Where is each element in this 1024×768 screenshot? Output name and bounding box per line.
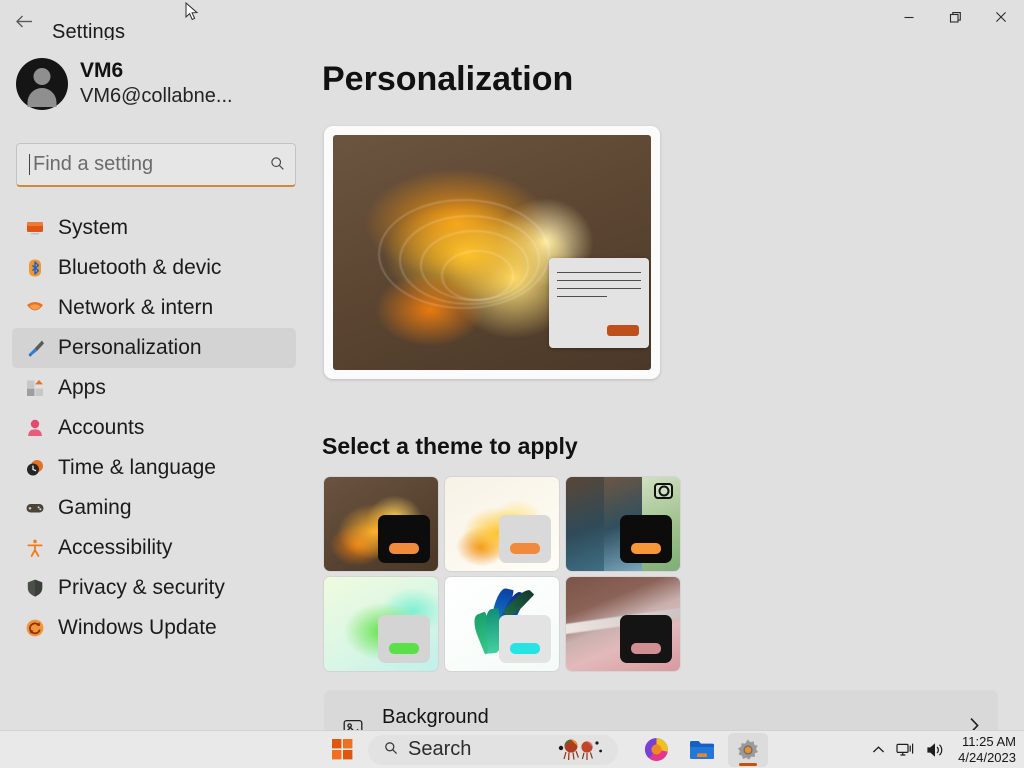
close-icon[interactable] [978, 0, 1024, 34]
file-explorer-icon[interactable] [682, 733, 722, 767]
theme-option-2[interactable] [445, 477, 559, 571]
sidebar-item-windows-update[interactable]: Windows Update [12, 608, 296, 648]
taskbar: Search [0, 730, 1024, 768]
sidebar-item-time-language[interactable]: Time & language [12, 448, 296, 488]
settings-window: Settings VM6 VM6@collabne... [0, 0, 1024, 768]
sidebar-nav: System Bluetooth & devic Network & inter… [0, 208, 312, 648]
accessibility-icon [24, 537, 46, 559]
title-bar: Settings [0, 0, 1024, 40]
time-language-icon [24, 457, 46, 479]
image-icon [340, 715, 366, 730]
windows-start-icon[interactable] [322, 733, 362, 767]
account-name: VM6 [80, 59, 233, 83]
search-icon [384, 741, 398, 758]
accounts-icon [24, 417, 46, 439]
sidebar-item-privacy-security[interactable]: Privacy & security [12, 568, 296, 608]
theme-mode-swatch [378, 615, 430, 663]
theme-option-6[interactable] [566, 577, 680, 671]
theme-option-4[interactable] [324, 577, 438, 671]
sidebar-item-gaming[interactable]: Gaming [12, 488, 296, 528]
theme-option-1[interactable] [324, 477, 438, 571]
theme-mode-swatch [499, 615, 551, 663]
sidebar-item-label: Privacy & security [58, 576, 225, 600]
sidebar-item-label: Accessibility [58, 536, 172, 560]
taskbar-search-label: Search [408, 738, 471, 761]
text-caret [29, 154, 30, 175]
sidebar-item-label: Network & intern [58, 296, 213, 320]
sidebar-item-label: Time & language [58, 456, 216, 480]
taskbar-center-group: Search [322, 731, 768, 768]
sidebar-item-label: Gaming [58, 496, 132, 520]
theme-mode-swatch [378, 515, 430, 563]
sidebar-item-label: Apps [58, 376, 106, 400]
network-icon [24, 297, 46, 319]
background-setting-card[interactable]: Background Background image, color, slid… [324, 690, 998, 730]
settings-gear-icon[interactable] [728, 733, 768, 767]
sidebar-item-label: Accounts [58, 416, 144, 440]
theme-preview-image [333, 135, 651, 370]
theme-mode-swatch [620, 615, 672, 663]
back-arrow-icon[interactable] [10, 10, 38, 32]
page-title: Personalization [322, 60, 573, 99]
theme-grid [324, 477, 680, 671]
section-title: Select a theme to apply [322, 433, 578, 460]
taskbar-clock[interactable]: 11:25 AM 4/24/2023 [958, 734, 1016, 765]
personalization-brush-icon [24, 337, 46, 359]
taskbar-search[interactable]: Search [368, 735, 618, 765]
network-tray-icon[interactable] [896, 742, 915, 758]
sidebar-item-apps[interactable]: Apps [12, 368, 296, 408]
sidebar-item-bluetooth-devices[interactable]: Bluetooth & devic [12, 248, 296, 288]
windows-update-icon [24, 617, 46, 639]
theme-mode-swatch [620, 515, 672, 563]
system-tray: 11:25 AM 4/24/2023 [872, 731, 1016, 768]
chevron-right-icon[interactable] [969, 717, 980, 730]
window-controls [886, 0, 1024, 34]
widgets-icon[interactable] [556, 737, 604, 763]
sidebar-item-system[interactable]: System [12, 208, 296, 248]
browser-icon[interactable] [636, 733, 676, 767]
shield-icon [24, 577, 46, 599]
account-block[interactable]: VM6 VM6@collabne... [16, 58, 233, 110]
volume-icon[interactable] [926, 742, 945, 758]
theme-mode-swatch [499, 515, 551, 563]
main-content: Personalization Select a theme to apply [312, 40, 1024, 730]
search-icon [270, 156, 285, 174]
sidebar-item-accessibility[interactable]: Accessibility [12, 528, 296, 568]
sidebar-item-label: System [58, 216, 128, 240]
gaming-controller-icon [24, 497, 46, 519]
apps-icon [24, 377, 46, 399]
account-email: VM6@collabne... [80, 84, 233, 109]
clock-date: 4/24/2023 [958, 750, 1016, 765]
search-field-wrapper[interactable]: Find a setting [16, 143, 296, 187]
minimize-icon[interactable] [886, 0, 932, 34]
theme-option-3[interactable] [566, 477, 680, 571]
bluetooth-icon [24, 257, 46, 279]
theme-option-5[interactable] [445, 577, 559, 671]
sidebar: VM6 VM6@collabne... Find a setting [0, 40, 312, 730]
sidebar-item-label: Windows Update [58, 616, 217, 640]
theme-preview-card [324, 126, 660, 379]
chevron-up-icon[interactable] [872, 745, 885, 755]
preview-mock-window [549, 258, 649, 348]
sidebar-item-personalization[interactable]: Personalization [12, 328, 296, 368]
search-placeholder: Find a setting [33, 153, 270, 176]
system-icon [24, 217, 46, 239]
search-input[interactable]: Find a setting [16, 143, 296, 187]
restore-icon[interactable] [932, 0, 978, 34]
sidebar-item-network-internet[interactable]: Network & intern [12, 288, 296, 328]
sidebar-item-label: Bluetooth & devic [58, 256, 221, 280]
clock-time: 11:25 AM [958, 734, 1016, 749]
user-avatar-icon [16, 58, 68, 110]
spotlight-camera-icon [654, 483, 673, 499]
sidebar-item-accounts[interactable]: Accounts [12, 408, 296, 448]
sidebar-item-label: Personalization [58, 336, 202, 360]
setting-card-title: Background [382, 704, 969, 730]
